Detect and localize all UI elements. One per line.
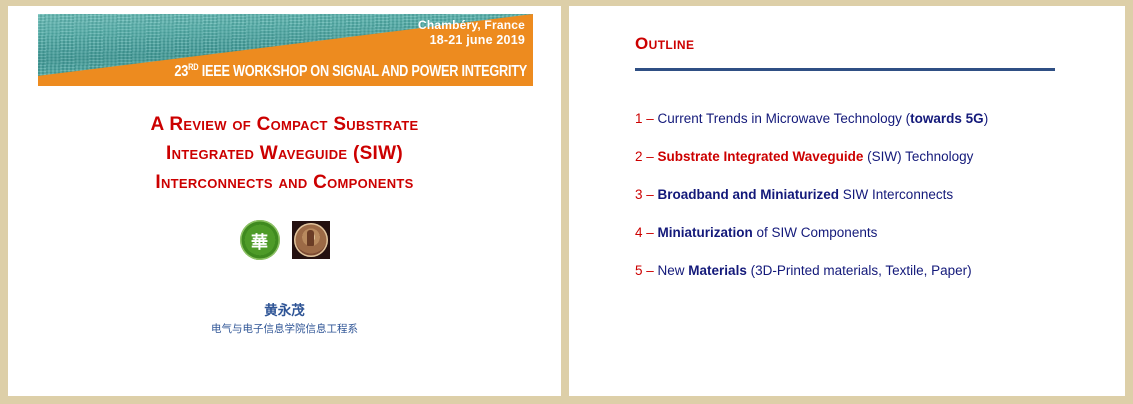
author-name: 黄永茂 [8,302,561,320]
title-line-2: Integrated Waveguide (SIW) [8,139,561,168]
outline-item-text: SIW Interconnects [839,187,953,202]
conference-banner: Chambéry, France 18-21 june 2019 23RD IE… [38,14,533,86]
outline-item-text: ) [984,111,989,126]
banner-edition-number: 23 [174,63,188,80]
outline-item-text: New [658,263,689,278]
outline-item[interactable]: 1 – Current Trends in Microwave Technolo… [635,110,1111,128]
outline-item-dash: – [643,149,658,164]
outline-item[interactable]: 5 – New Materials (3D-Printed materials,… [635,262,1111,280]
outline-item-number: 2 [635,149,643,164]
outline-item-text: Current Trends in Microwave Technology ( [658,111,911,126]
outline-item-text: Miniaturization [658,225,753,240]
author-department: 电气与电子信息学院信息工程系 [8,321,561,337]
outline-item[interactable]: 3 – Broadband and Miniaturized SIW Inter… [635,186,1111,204]
outline-item-text: Materials [688,263,747,278]
banner-workshop-name: IEEE WORKSHOP ON SIGNAL AND POWER INTEGR… [202,63,527,80]
outline-item-text: Substrate Integrated Waveguide [658,149,864,164]
outline-item-dash: – [643,187,658,202]
outline-heading: Outline [635,34,694,54]
outline-item-dash: – [643,263,658,278]
title-line-3: Interconnects and Components [8,168,561,197]
author-block: 黄永茂 电气与电子信息学院信息工程系 [8,302,561,337]
outline-divider [635,68,1055,71]
slide-title[interactable]: Chambéry, France 18-21 june 2019 23RD IE… [8,6,561,396]
outline-item-text: of SIW Components [753,225,878,240]
university-seal-dark-emblem [294,223,328,257]
institution-logos [8,220,561,260]
banner-workshop-title: 23RD IEEE WORKSHOP ON SIGNAL AND POWER I… [174,59,527,80]
banner-location: Chambéry, France [418,18,525,32]
outline-item-number: 3 [635,187,643,202]
outline-item-number: 4 [635,225,643,240]
university-seal-dark-icon [292,221,330,259]
outline-item-text: Broadband and Miniaturized [658,187,840,202]
slide-deck: Chambéry, France 18-21 june 2019 23RD IE… [0,0,1133,404]
outline-item[interactable]: 4 – Miniaturization of SIW Components [635,224,1111,242]
banner-dates: 18-21 june 2019 [430,33,525,47]
outline-item[interactable]: 2 – Substrate Integrated Waveguide (SIW)… [635,148,1111,166]
outline-item-text: (SIW) Technology [863,149,973,164]
title-line-1: A Review of Compact Substrate [8,110,561,139]
slide-outline[interactable]: Outline 1 – Current Trends in Microwave … [569,6,1125,396]
university-seal-green-icon [240,220,280,260]
outline-item-number: 5 [635,263,643,278]
outline-item-number: 1 [635,111,643,126]
presentation-title: A Review of Compact Substrate Integrated… [8,110,561,197]
outline-item-dash: – [643,225,658,240]
outline-item-dash: – [643,111,658,126]
outline-item-text: towards 5G [910,111,984,126]
outline-item-text: (3D-Printed materials, Textile, Paper) [747,263,972,278]
banner-edition-suffix: RD [188,62,198,72]
outline-list: 1 – Current Trends in Microwave Technolo… [635,110,1111,300]
